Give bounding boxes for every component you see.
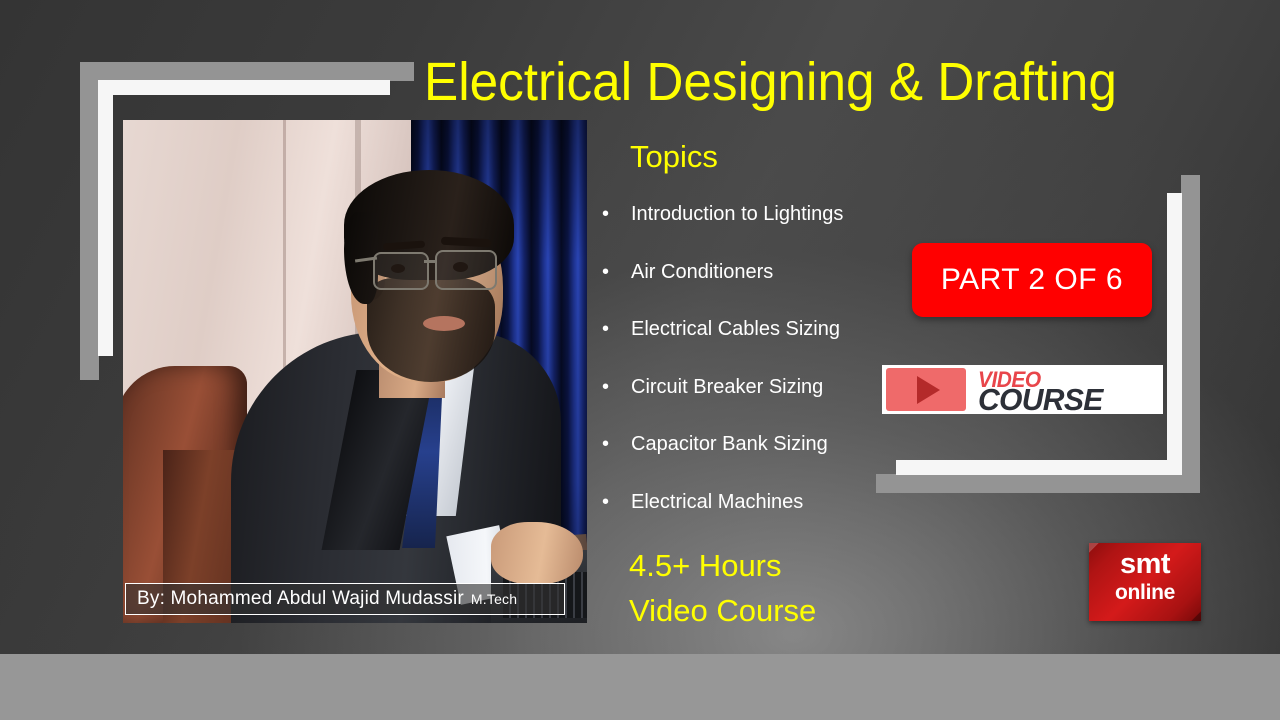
slide-title: Electrical Designing & Drafting <box>424 50 1222 114</box>
list-item: • Air Conditioners <box>601 260 931 318</box>
bullet-icon: • <box>602 375 609 400</box>
list-item-label: Electrical Machines <box>631 491 803 513</box>
presenter-degree-text: M.Tech <box>471 591 517 607</box>
list-item-label: Capacitor Bank Sizing <box>631 433 828 455</box>
presenter-name-text: By: Mohammed Abdul Wajid Mudassir <box>137 588 464 610</box>
play-triangle-icon <box>917 376 940 404</box>
topics-heading: Topics <box>630 137 718 177</box>
course-duration-line2: Video Course <box>629 588 816 633</box>
bullet-icon: • <box>602 317 609 342</box>
photo-eye-right <box>453 262 468 272</box>
list-item-label: Air Conditioners <box>631 261 773 283</box>
smt-logo-line2: online <box>1089 581 1201 605</box>
list-item: • Capacitor Bank Sizing <box>601 432 931 490</box>
bottom-grey-band <box>0 654 1280 720</box>
right-frame-inner-bottom-arm <box>896 460 1182 475</box>
bullet-icon: • <box>602 202 609 227</box>
photo-hand <box>491 522 583 584</box>
right-frame-outer-right-arm <box>1181 175 1200 493</box>
video-course-logo: VIDEO COURSE <box>882 365 1163 414</box>
left-frame-inner-top-arm <box>98 80 390 95</box>
presentation-slide: By: Mohammed Abdul Wajid Mudassir M.Tech… <box>0 0 1280 720</box>
list-item: • Electrical Machines <box>601 490 931 548</box>
bullet-icon: • <box>602 432 609 457</box>
list-item-label: Electrical Cables Sizing <box>631 318 840 340</box>
video-course-logo-line2: COURSE <box>978 382 1103 414</box>
course-duration: 4.5+ Hours Video Course <box>629 543 816 633</box>
course-duration-line1: 4.5+ Hours <box>629 543 816 588</box>
list-item-label: Introduction to Lightings <box>631 203 843 225</box>
part-badge: PART 2 OF 6 <box>912 243 1152 317</box>
presenter-name-caption: By: Mohammed Abdul Wajid Mudassir M.Tech <box>125 583 565 615</box>
smt-online-logo: smt online <box>1089 543 1201 621</box>
left-frame-inner-left-arm <box>98 80 113 356</box>
photo-eye-left <box>391 264 405 273</box>
right-frame-inner-right-arm <box>1167 193 1182 475</box>
left-frame-outer-top-arm <box>80 62 414 81</box>
part-badge-label: PART 2 OF 6 <box>941 263 1123 297</box>
play-button-icon <box>886 368 966 411</box>
bullet-icon: • <box>602 260 609 285</box>
photo-beard <box>367 278 495 382</box>
photo-eyeglass-bridge <box>424 260 437 263</box>
right-frame-inner-white <box>896 193 1182 475</box>
list-item-label: Circuit Breaker Sizing <box>631 376 823 398</box>
photo-lips <box>423 316 465 331</box>
left-frame-outer-left-arm <box>80 62 99 380</box>
smt-logo-line1: smt <box>1089 549 1201 579</box>
bullet-icon: • <box>602 490 609 515</box>
presenter-photo <box>123 120 587 623</box>
list-item: • Introduction to Lightings <box>601 202 931 260</box>
